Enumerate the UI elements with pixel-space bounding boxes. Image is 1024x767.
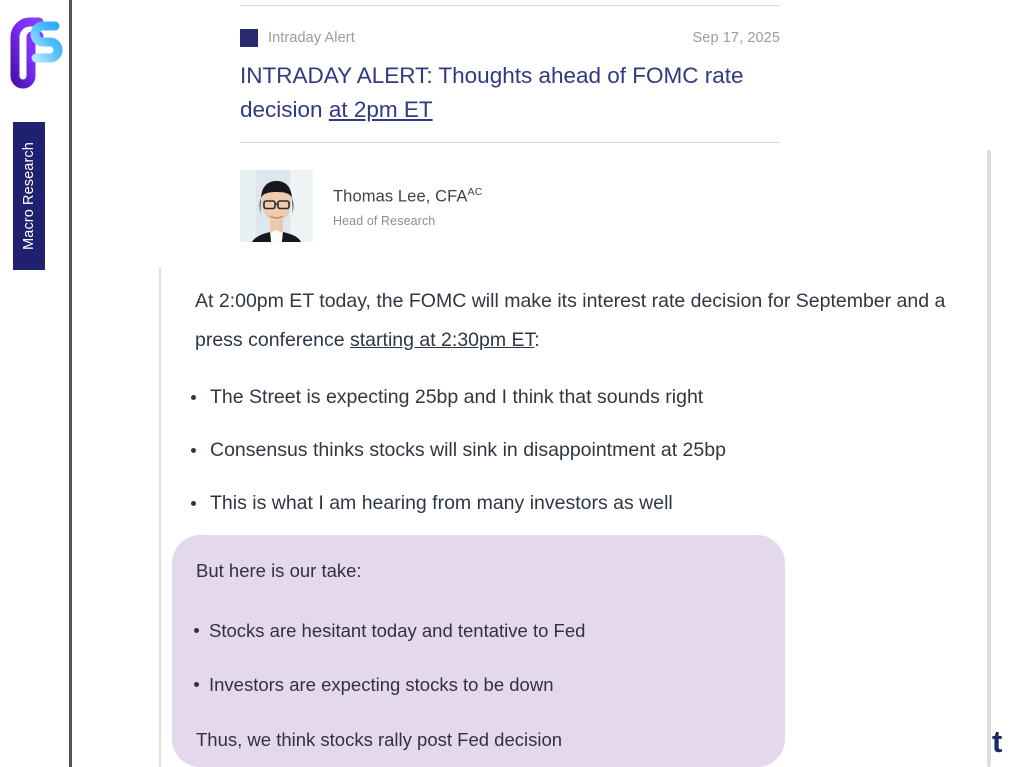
article-title-link[interactable]: at 2pm ET: [329, 97, 433, 122]
author-headshot-icon: [240, 170, 313, 242]
list-item: Stocks are hesitant today and tentative …: [172, 618, 785, 643]
article-date: Sep 17, 2025: [693, 30, 780, 46]
author-credential-superscript: AC: [467, 186, 482, 198]
author-role: Head of Research: [333, 214, 482, 228]
article-body-panel: At 2:00pm ET today, the FOMC will make i…: [159, 268, 989, 767]
list-item: This is what I am hearing from many inve…: [161, 490, 989, 516]
clipped-overflow-text: t: [992, 724, 1002, 760]
intro-text-part2: :: [534, 329, 539, 351]
header-divider-bottom: [240, 142, 780, 143]
sidebar-tab-label: Macro Research: [21, 142, 37, 250]
intro-link[interactable]: starting at 2:30pm ET: [350, 329, 534, 351]
author-block: Thomas Lee, CFAAC Head of Research: [240, 170, 482, 242]
left-rail: Macro Research: [0, 0, 70, 767]
callout-lead-text: But here is our take:: [172, 557, 785, 585]
content-right-divider[interactable]: [987, 150, 991, 767]
author-name: Thomas Lee, CFAAC: [333, 186, 482, 207]
article-header: Intraday Alert Sep 17, 2025 INTRADAY ALE…: [240, 0, 780, 143]
bullet-text: Consensus thinks stocks will sink in dis…: [210, 439, 726, 461]
list-item: The Street is expecting 25bp and I think…: [161, 384, 989, 410]
sidebar-tab-macro-research[interactable]: Macro Research: [13, 122, 45, 270]
callout-conclusion-text: Thus, we think stocks rally post Fed dec…: [172, 726, 785, 754]
list-item: Consensus thinks stocks will sink in dis…: [161, 437, 989, 463]
header-divider-top: [240, 5, 780, 6]
intro-text-part1: At 2:00pm ET today, the FOMC will make i…: [195, 290, 945, 351]
our-take-callout: But here is our take: Stocks are hesitan…: [172, 535, 785, 767]
bullet-text: Investors are expecting stocks to be dow…: [209, 674, 554, 695]
main-bullet-list: The Street is expecting 25bp and I think…: [161, 384, 989, 516]
article-category-group: Intraday Alert: [240, 29, 355, 47]
list-item: Investors are expecting stocks to be dow…: [172, 672, 785, 697]
bullet-text: This is what I am hearing from many inve…: [210, 492, 673, 514]
intro-paragraph: At 2:00pm ET today, the FOMC will make i…: [161, 268, 965, 360]
article-title[interactable]: INTRADAY ALERT: Thoughts ahead of FOMC r…: [240, 59, 780, 127]
bullet-text: The Street is expecting 25bp and I think…: [210, 386, 703, 408]
author-name-text: Thomas Lee, CFA: [333, 188, 467, 206]
article-meta-row: Intraday Alert Sep 17, 2025: [240, 28, 780, 48]
bullet-text: Stocks are hesitant today and tentative …: [209, 620, 585, 641]
author-text: Thomas Lee, CFAAC Head of Research: [333, 170, 482, 228]
callout-bullet-list: Stocks are hesitant today and tentative …: [172, 618, 785, 697]
article-category-label: Intraday Alert: [268, 30, 355, 46]
fundstrat-fs-logo-icon[interactable]: [8, 14, 64, 90]
rail-vertical-divider: [69, 0, 72, 767]
article-title-text: INTRADAY ALERT: Thoughts ahead of FOMC r…: [240, 63, 744, 122]
category-swatch-icon: [240, 29, 258, 47]
